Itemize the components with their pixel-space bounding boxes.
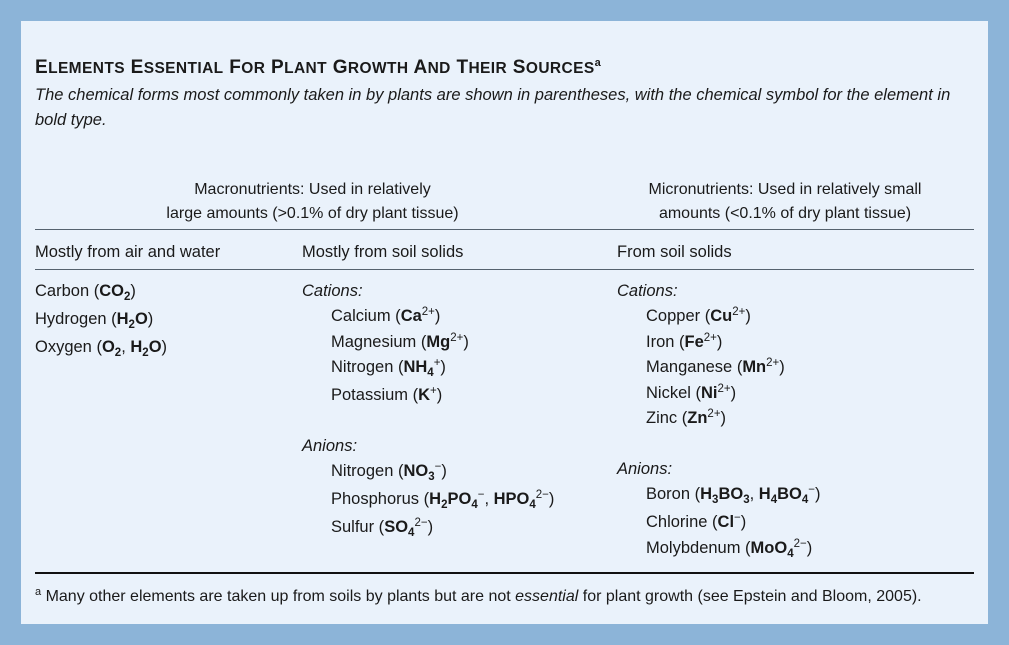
column-macro-soil-solids: Cations:Calcium (Ca2+)Magnesium (Mg2+)Ni… xyxy=(302,279,602,542)
column-micro-soil-solids: Cations:Copper (Cu2+)Iron (Fe2+)Manganes… xyxy=(617,279,967,563)
table-footnote: a Many other elements are taken up from … xyxy=(35,584,970,609)
group-header-line: amounts (<0.1% of dry plant tissue) xyxy=(595,202,975,226)
group-header-macronutrients: Macronutrients: Used in relativelylarge … xyxy=(35,178,590,226)
element-entry: Copper (Cu2+) xyxy=(617,304,967,329)
element-entry: Molybdenum (MoO42−) xyxy=(617,536,967,564)
ion-group-label: Cations: xyxy=(617,279,967,304)
group-header-micronutrients: Micronutrients: Used in relatively small… xyxy=(595,178,975,226)
footnote-rule xyxy=(35,572,974,574)
element-entry: Zinc (Zn2+) xyxy=(617,406,967,431)
element-entry: Iron (Fe2+) xyxy=(617,330,967,355)
element-entry: Calcium (Ca2+) xyxy=(302,304,602,329)
column-header-air-and-water: Mostly from air and water xyxy=(35,243,220,262)
element-entry: Manganese (Mn2+) xyxy=(617,355,967,380)
group-header-line: Macronutrients: Used in relatively xyxy=(35,178,590,202)
table-panel: ELEMENTS ESSENTIAL FOR PLANT GROWTH AND … xyxy=(21,21,988,624)
element-entry: Nitrogen (NH4+) xyxy=(302,355,602,383)
element-entry: Hydrogen (H2O) xyxy=(35,307,285,335)
element-entry: Nitrogen (NO3−) xyxy=(302,459,602,487)
title-footnote-marker: a xyxy=(595,57,601,69)
element-entry: Sulfur (SO42−) xyxy=(302,515,602,543)
ion-group-label: Anions: xyxy=(617,457,967,482)
group-header-line: large amounts (>0.1% of dry plant tissue… xyxy=(35,202,590,226)
footnote-text: Many other elements are taken up from so… xyxy=(41,588,922,605)
element-entry: Nickel (Ni2+) xyxy=(617,381,967,406)
element-entry: Boron (H3BO3, H4BO4−) xyxy=(617,482,967,510)
element-entry: Oxygen (O2, H2O) xyxy=(35,335,285,363)
element-entry: Potassium (K+) xyxy=(302,383,602,408)
ion-group-label: Cations: xyxy=(302,279,602,304)
group-spacer xyxy=(617,432,967,457)
column-air-and-water: Carbon (CO2)Hydrogen (H2O)Oxygen (O2, H2… xyxy=(35,279,285,362)
header-rule-top xyxy=(35,229,974,230)
element-entry: Carbon (CO2) xyxy=(35,279,285,307)
element-entry: Phosphorus (H2PO4−, HPO42−) xyxy=(302,487,602,515)
group-spacer xyxy=(302,409,602,434)
element-entry: Magnesium (Mg2+) xyxy=(302,330,602,355)
header-rule-bottom xyxy=(35,269,974,270)
element-entry: Chlorine (Cl−) xyxy=(617,510,967,535)
ion-group-label: Anions: xyxy=(302,434,602,459)
page-title: ELEMENTS ESSENTIAL FOR PLANT GROWTH AND … xyxy=(35,57,601,79)
table-subtitle: The chemical forms most commonly taken i… xyxy=(35,83,965,133)
column-header-micro-soil-solids: From soil solids xyxy=(617,243,732,262)
group-header-line: Micronutrients: Used in relatively small xyxy=(595,178,975,202)
column-header-macro-soil-solids: Mostly from soil solids xyxy=(302,243,463,262)
